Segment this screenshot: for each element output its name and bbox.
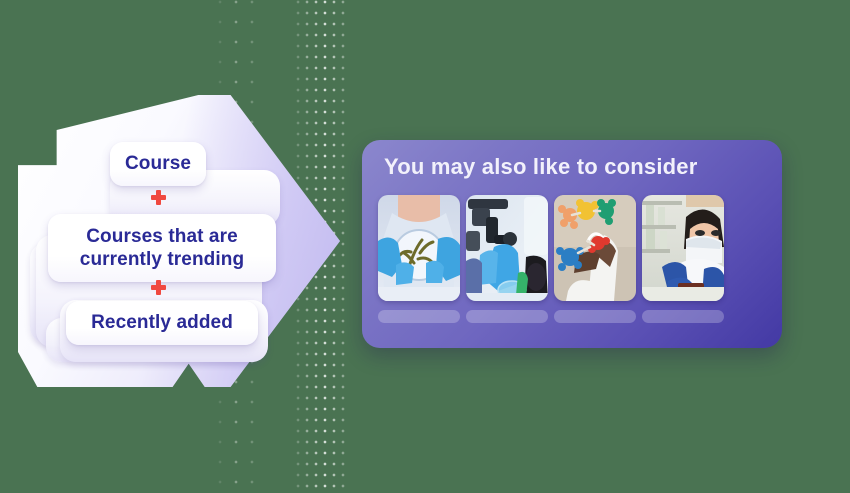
thumbnail-caption-placeholder: [642, 310, 724, 323]
molecule-model-icon: [554, 195, 636, 301]
chip-trending[interactable]: Courses that are currently trending: [48, 214, 276, 282]
list-item[interactable]: [466, 195, 548, 323]
thumbnail-image-seaweed-petri-dish[interactable]: [378, 195, 460, 301]
list-item[interactable]: [642, 195, 724, 323]
illustration-stage: Course Courses that are currently trendi…: [0, 0, 850, 493]
thumbnail-image-microscope-lab[interactable]: [466, 195, 548, 301]
seaweed-petri-dish-icon: [378, 195, 460, 301]
recommendation-thumbnail-list: [378, 195, 766, 323]
thumbnail-image-masked-scientist[interactable]: [642, 195, 724, 301]
recommendation-card-title: You may also like to consider: [384, 154, 698, 180]
thumbnail-caption-placeholder: [466, 310, 548, 323]
masked-scientist-icon: [642, 195, 724, 301]
plus-icon: [151, 280, 166, 295]
thumbnail-image-molecular-model[interactable]: [554, 195, 636, 301]
chip-recently-added[interactable]: Recently added: [66, 301, 258, 345]
thumbnail-caption-placeholder: [378, 310, 460, 323]
plus-icon: [151, 190, 166, 205]
chip-course[interactable]: Course: [110, 142, 206, 186]
recommendation-card: You may also like to consider: [362, 140, 782, 348]
thumbnail-caption-placeholder: [554, 310, 636, 323]
list-item[interactable]: [554, 195, 636, 323]
microscope-icon: [466, 195, 548, 301]
list-item[interactable]: [378, 195, 460, 323]
